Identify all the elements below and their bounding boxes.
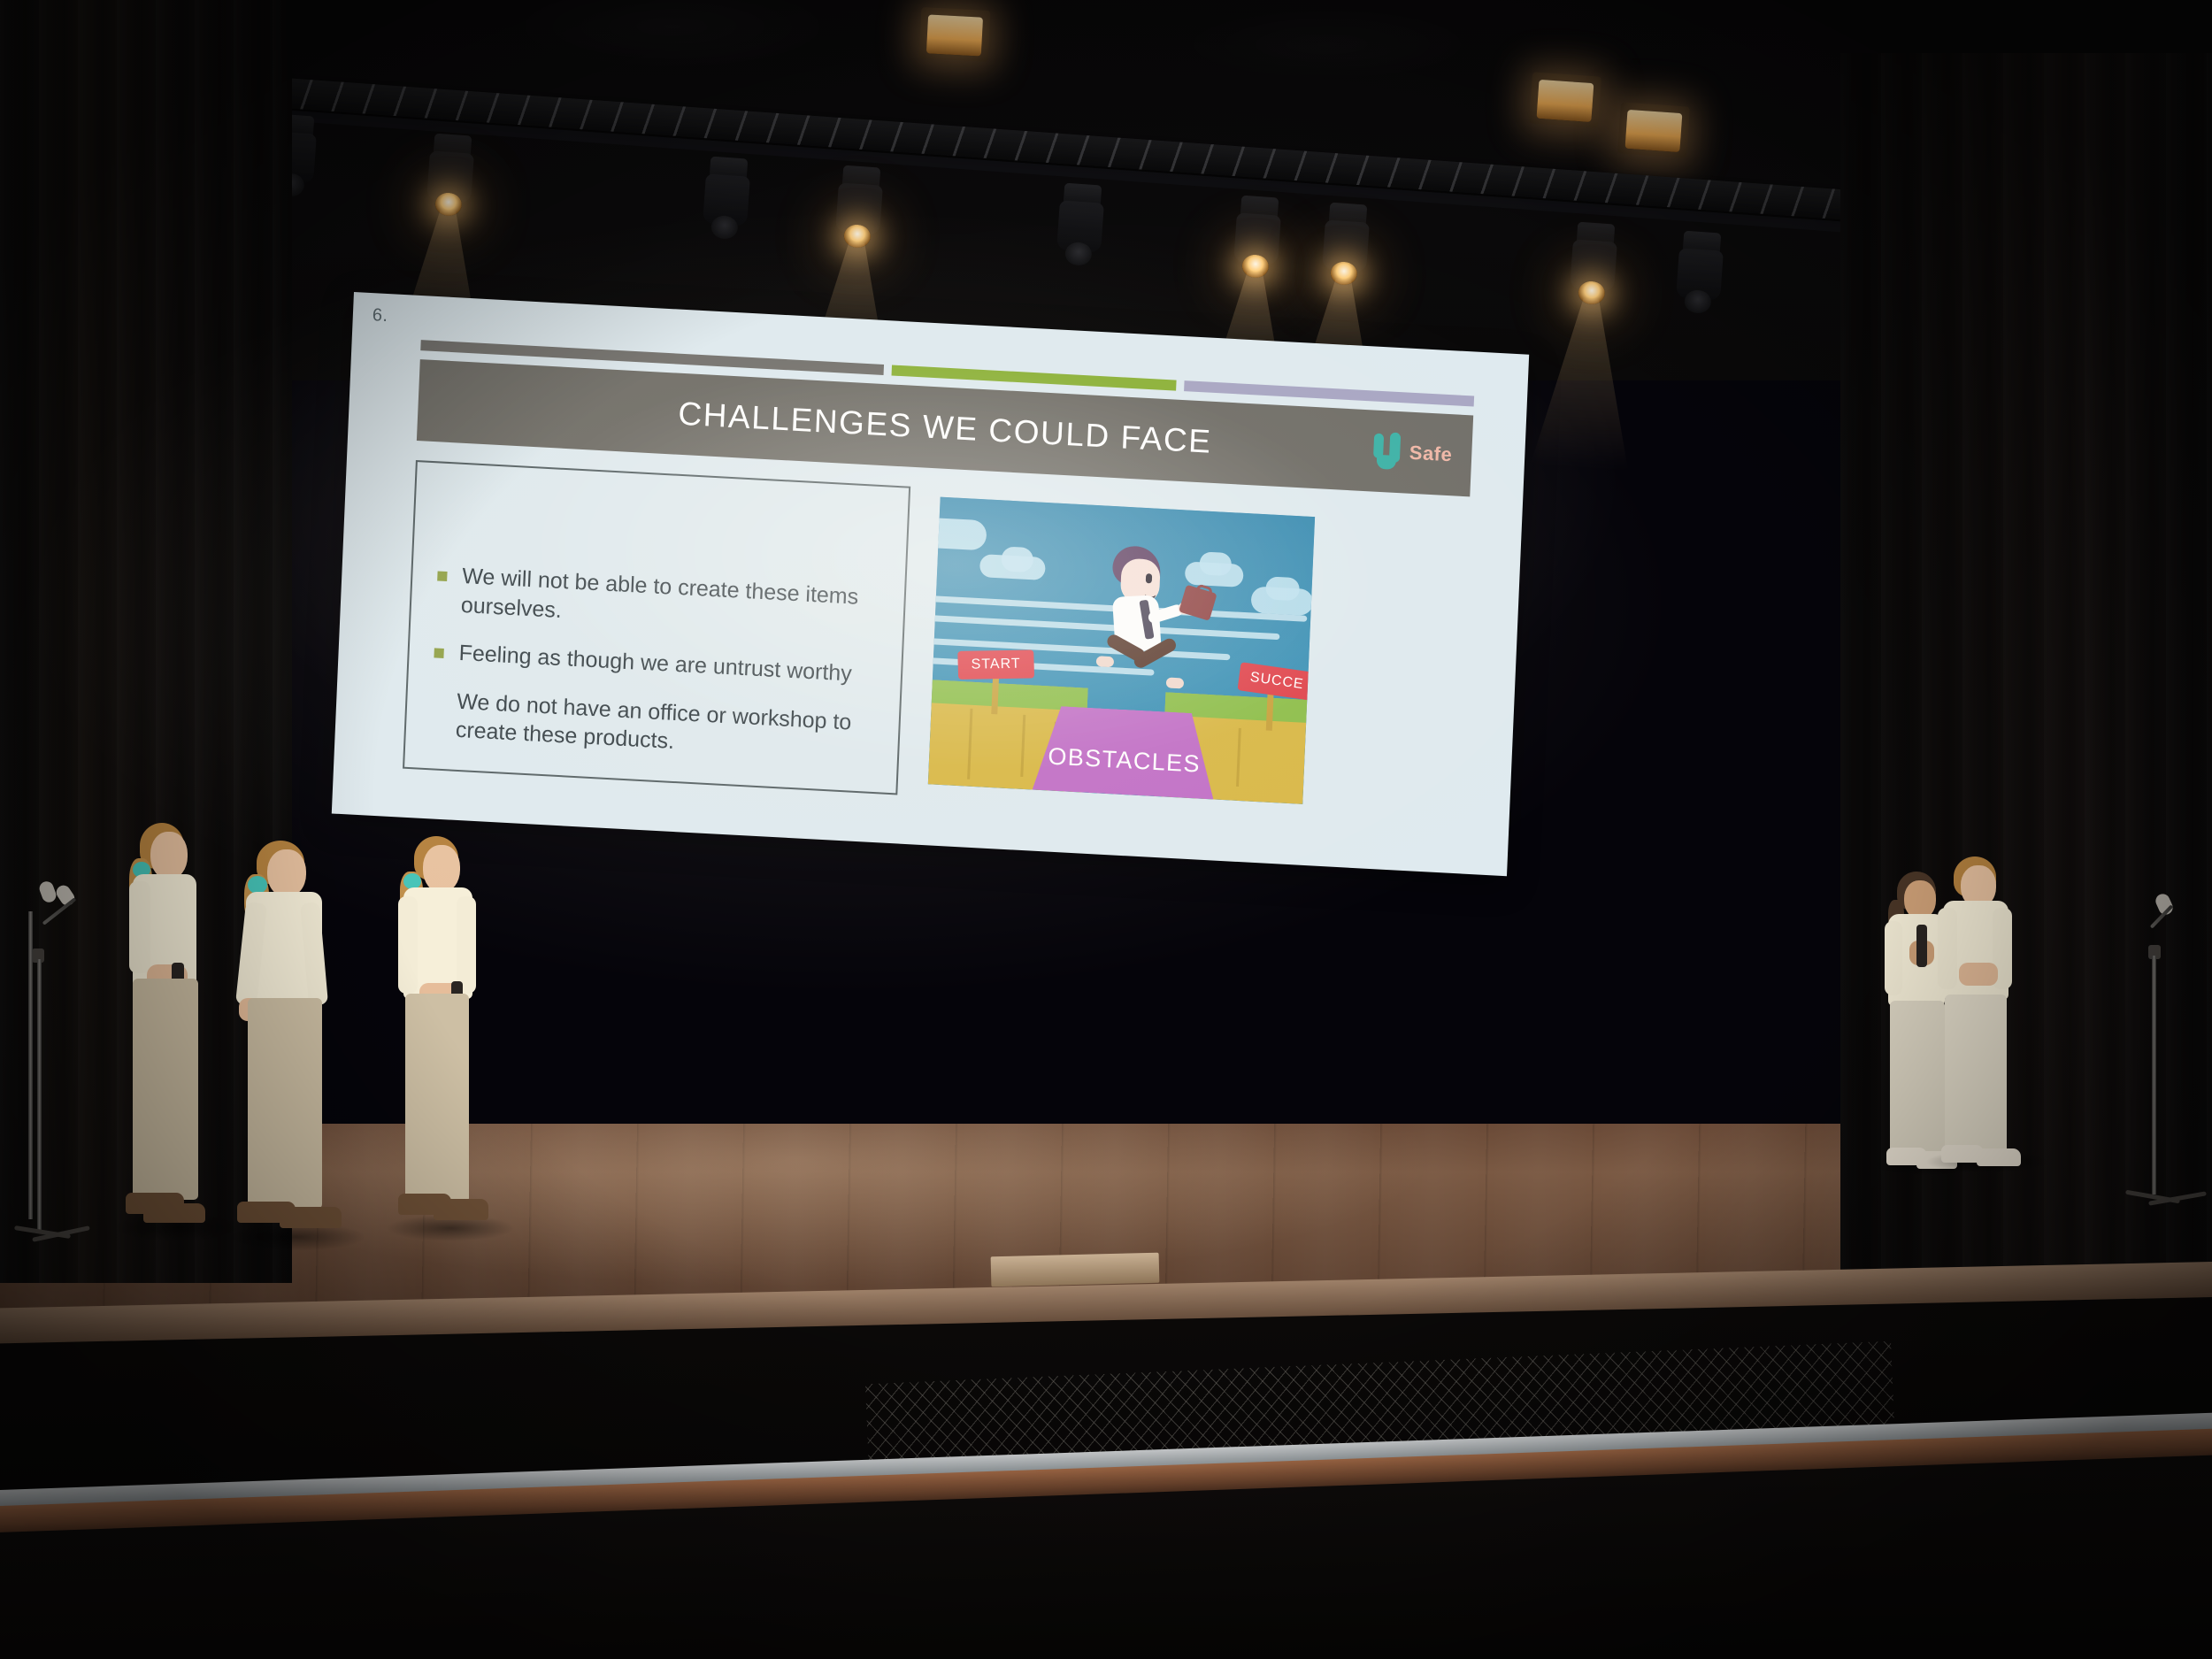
bullet-text: We will not be able to create these item… xyxy=(460,562,892,642)
microphone-stand-left-2[interactable] xyxy=(27,876,88,1256)
obstacles-label: OBSTACLES xyxy=(1048,742,1202,778)
ceiling-light-pod xyxy=(1529,72,1601,127)
ceiling-light-pod xyxy=(1617,102,1690,157)
eye xyxy=(1146,573,1152,583)
logo-wordmark: Safe xyxy=(1409,442,1453,467)
hair-ribbon xyxy=(248,876,267,894)
stage-edge-plank xyxy=(991,1253,1160,1287)
cloud-icon xyxy=(1001,546,1033,572)
microphone-stand-right[interactable] xyxy=(2141,894,2212,1230)
stage-light-fixture xyxy=(829,165,890,253)
bullet-square-icon xyxy=(434,648,443,658)
handheld-microphone xyxy=(1916,925,1927,967)
list-item: Feeling as though we are untrust worthy xyxy=(434,637,889,690)
presenter-left-2 xyxy=(237,841,352,1248)
projected-slide: 6. CHALLENGES WE COULD FACE Safe xyxy=(332,292,1529,876)
bullet-square-icon xyxy=(437,571,447,581)
list-item: We do not have an office or workshop to … xyxy=(430,686,887,767)
ceiling-light-pod xyxy=(919,7,991,62)
stage-light-fixture xyxy=(1227,195,1288,283)
businessman-figure xyxy=(1092,544,1205,718)
slide-title: CHALLENGES WE COULD FACE xyxy=(678,396,1213,461)
stage-light-fixture xyxy=(1050,182,1111,271)
projection-screen: 6. CHALLENGES WE COULD FACE Safe xyxy=(332,292,1529,876)
back-shoe xyxy=(1166,677,1184,688)
presenter-left-3 xyxy=(396,836,501,1239)
presenter-left-1 xyxy=(124,823,230,1239)
cloud-icon xyxy=(928,517,987,550)
bullet-text: We do not have an office or workshop to … xyxy=(455,687,887,767)
stage-light-fixture xyxy=(696,156,757,244)
bullet-list: We will not be able to create these item… xyxy=(429,560,892,787)
stage-scene: 6. CHALLENGES WE COULD FACE Safe xyxy=(0,0,2212,1659)
obstacles-gap-banner: OBSTACLES xyxy=(1033,705,1217,800)
list-item: We will not be able to create these item… xyxy=(435,560,892,641)
slide-illustration: START SUCCE OBSTACLES xyxy=(928,497,1315,804)
stage-light-fixture xyxy=(1563,221,1624,310)
start-sign: START xyxy=(957,649,1034,679)
bullet-text: Feeling as though we are untrust worthy xyxy=(458,639,852,688)
presenter-right-2 xyxy=(1934,856,2037,1173)
stage-light-fixture xyxy=(1316,202,1377,290)
bullet-square-icon xyxy=(432,696,442,707)
front-shoe xyxy=(1096,656,1114,667)
cloud-icon xyxy=(1265,576,1300,601)
slide-number: 6. xyxy=(372,305,388,326)
usafe-logo: Safe xyxy=(1371,431,1453,474)
u-glyph-icon xyxy=(1371,431,1406,472)
stage-light-fixture xyxy=(420,133,481,221)
slide-content-panel: We will not be able to create these item… xyxy=(403,460,910,795)
stage-light-fixture xyxy=(1670,230,1731,319)
